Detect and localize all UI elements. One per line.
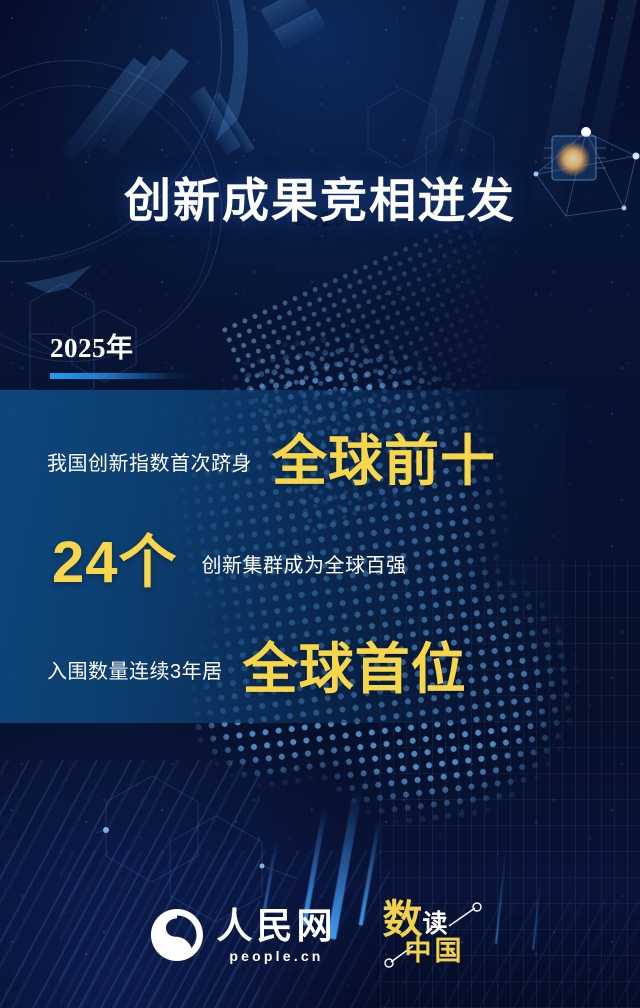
infographic-poster: 2019 创新成果竞相迸发 2025年 我国创新指数首次跻身 全球前十 24个 … (0, 0, 640, 1008)
people-cn-logo[interactable]: 人民网 people.cn (149, 907, 336, 964)
stats-rows: 我国创新指数首次跻身 全球前十 24个 创新集群成为全球百强 入围数量连续3年居… (0, 390, 640, 723)
shudu-char-shu: 数 (383, 900, 423, 940)
stat-row-2-highlight: 24个 (52, 533, 178, 593)
stat-row-3-highlight: 全球首位 (243, 639, 467, 699)
stat-row-1-label: 我国创新指数首次跻身 (47, 447, 252, 476)
year-block: 2025年 (50, 332, 196, 379)
year-label: 2025年 (50, 332, 196, 364)
shudu-zhongguo-logo[interactable]: 数 读 中国 (383, 900, 491, 970)
page-title: 创新成果竞相迸发 (0, 174, 640, 228)
year-underline-bar (50, 373, 196, 379)
shudu-char-zhongguo: 中国 (405, 937, 465, 965)
stat-row-3: 入围数量连续3年居 全球首位 (0, 626, 640, 712)
stat-row-2: 24个 创新集群成为全球百强 (0, 520, 640, 606)
people-globe-icon (149, 907, 205, 963)
shudu-char-du: 读 (423, 912, 448, 938)
footer-logos: 人民网 people.cn 数 读 中国 (0, 900, 640, 970)
stat-row-3-label: 入围数量连续3年居 (47, 655, 223, 684)
stat-row-2-label: 创新集群成为全球百强 (202, 549, 407, 578)
stat-row-1: 我国创新指数首次跻身 全球前十 (0, 418, 640, 504)
people-cn-name: 人民网 (216, 907, 336, 945)
stat-row-1-highlight: 全球前十 (272, 431, 496, 491)
people-cn-wordmark: 人民网 people.cn (216, 907, 336, 964)
people-cn-domain: people.cn (229, 948, 323, 964)
